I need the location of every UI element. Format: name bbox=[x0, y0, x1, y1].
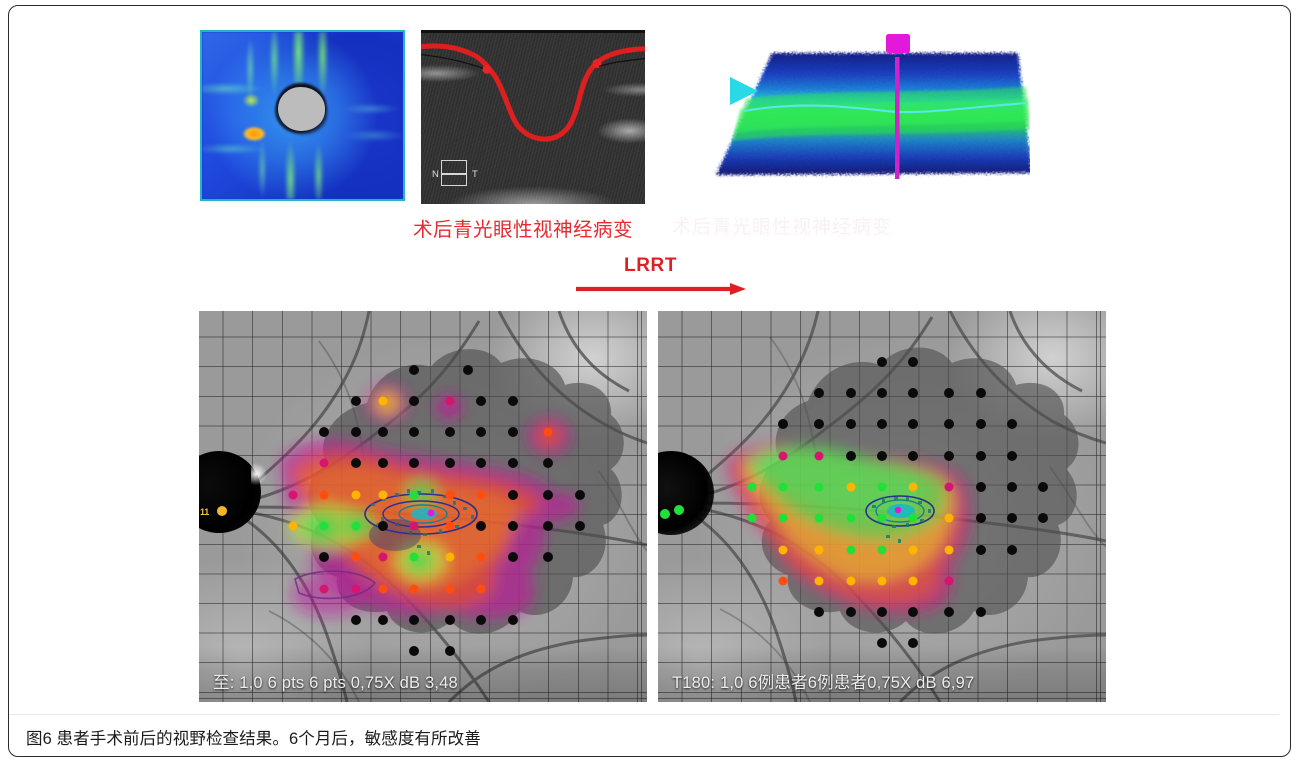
postop-label-ghost: 术后青光眼性视神经病变 bbox=[672, 212, 892, 239]
sensitivity-point bbox=[351, 458, 361, 468]
sensitivity-point bbox=[410, 553, 419, 562]
sensitivity-point bbox=[543, 490, 553, 500]
sensitivity-point bbox=[544, 428, 553, 437]
sensitivity-point bbox=[908, 607, 918, 617]
sensitivity-point bbox=[508, 552, 518, 562]
sensitivity-point bbox=[410, 490, 419, 499]
sensitivity-point bbox=[409, 615, 419, 625]
sensitivity-point bbox=[814, 388, 824, 398]
sensitivity-point bbox=[351, 615, 361, 625]
sensitivity-point bbox=[814, 419, 824, 429]
sensitivity-point bbox=[878, 514, 887, 523]
sensitivity-point bbox=[815, 545, 824, 554]
visual-field-postop[interactable]: T180: 1,0 6例患者6例患者0,75X dB 6,97 bbox=[658, 311, 1106, 702]
sensitivity-point bbox=[476, 458, 486, 468]
sensitivity-point bbox=[575, 490, 585, 500]
sensitivity-point bbox=[351, 522, 360, 531]
sensitivity-point bbox=[944, 451, 954, 461]
sensitivity-point bbox=[976, 451, 986, 461]
oct-orientation-box-icon bbox=[441, 160, 467, 186]
figure-body: N T bbox=[0, 0, 1309, 765]
sensitivity-point bbox=[320, 490, 329, 499]
sensitivity-point bbox=[543, 521, 553, 531]
sensitivity-point bbox=[320, 522, 329, 531]
sensitivity-point bbox=[476, 521, 486, 531]
sensitivity-point bbox=[976, 419, 986, 429]
sensitivity-point bbox=[476, 427, 486, 437]
sensitivity-point bbox=[378, 521, 388, 531]
status-text-preop: 至: 1,0 6 pts 6 pts 0,75X dB 3,48 bbox=[213, 669, 458, 693]
sensitivity-point bbox=[508, 458, 518, 468]
sensitivity-point bbox=[779, 514, 788, 523]
sensitivity-point bbox=[976, 545, 986, 555]
sensitivity-point bbox=[409, 427, 419, 437]
sensitivity-point bbox=[976, 482, 986, 492]
sensitivity-point bbox=[351, 584, 360, 593]
sensitivity-point bbox=[878, 576, 887, 585]
sensitivity-point bbox=[878, 545, 887, 554]
oct-temporal-label: T bbox=[472, 169, 478, 180]
sensitivity-point bbox=[778, 419, 788, 429]
sensitivity-point bbox=[1038, 513, 1048, 523]
sensitivity-point bbox=[908, 388, 918, 398]
sensitivity-point bbox=[445, 427, 455, 437]
sensitivity-point bbox=[815, 482, 824, 491]
sensitivity-point bbox=[846, 451, 856, 461]
sensitivity-point bbox=[944, 388, 954, 398]
sensitivity-point bbox=[976, 607, 986, 617]
edge-marker-label-preop: 11 bbox=[200, 507, 209, 517]
sensitivity-point bbox=[909, 514, 918, 523]
sensitivity-point bbox=[351, 490, 360, 499]
sensitivity-point bbox=[508, 427, 518, 437]
sensitivity-point bbox=[378, 584, 387, 593]
postop-diagnosis-label: 术后青光眼性视神经病变 bbox=[413, 213, 633, 242]
sensitivity-point bbox=[543, 458, 553, 468]
lrrt-treatment-label: LRRT bbox=[624, 255, 677, 277]
sensitivity-point bbox=[543, 552, 553, 562]
sensitivity-point bbox=[319, 427, 329, 437]
sensitivity-point bbox=[909, 482, 918, 491]
sensitivity-point bbox=[878, 482, 887, 491]
sensitivity-point bbox=[814, 607, 824, 617]
sensitivity-point bbox=[815, 576, 824, 585]
sensitivity-point bbox=[945, 514, 954, 523]
sensitivity-point bbox=[846, 545, 855, 554]
figure-caption: 图6 患者手术前后的视野检查结果。6个月后，敏感度有所改善 bbox=[26, 725, 481, 749]
sensitivity-point bbox=[477, 553, 486, 562]
sensitivity-point bbox=[908, 451, 918, 461]
sensitivity-point bbox=[508, 615, 518, 625]
sensitivity-point bbox=[289, 522, 298, 531]
sensitivity-point bbox=[378, 458, 388, 468]
sensitivity-point bbox=[351, 427, 361, 437]
sensitivity-point bbox=[378, 427, 388, 437]
sensitivity-point bbox=[378, 490, 387, 499]
sensitivity-point bbox=[409, 396, 419, 406]
oct-bscan-panel: N T bbox=[421, 30, 645, 204]
sensitivity-point bbox=[945, 576, 954, 585]
sensitivity-point bbox=[877, 357, 887, 367]
sensitivity-point bbox=[445, 458, 455, 468]
oct-nasal-label: N bbox=[432, 169, 439, 180]
sensitivity-point bbox=[1007, 545, 1017, 555]
sensitivity-point bbox=[410, 522, 419, 531]
sensitivity-point bbox=[476, 615, 486, 625]
sensitivity-point bbox=[351, 553, 360, 562]
progression-arrow-icon bbox=[576, 282, 746, 296]
sensitivity-point bbox=[445, 615, 455, 625]
figure-panel: N T bbox=[0, 0, 1309, 765]
sensitivity-point bbox=[508, 490, 518, 500]
sensitivity-point bbox=[976, 388, 986, 398]
caption-divider bbox=[9, 714, 1279, 715]
sensitivity-point bbox=[846, 514, 855, 523]
sensitivity-point bbox=[779, 545, 788, 554]
sensitivity-point bbox=[1007, 513, 1017, 523]
sensitivity-point bbox=[909, 545, 918, 554]
sensitivity-point bbox=[1038, 482, 1048, 492]
sensitivity-point bbox=[445, 490, 454, 499]
sensitivity-point bbox=[846, 482, 855, 491]
sensitivity-point bbox=[289, 490, 298, 499]
sensitivity-point bbox=[815, 514, 824, 523]
sensitivity-point bbox=[748, 514, 757, 523]
visual-field-preop[interactable]: 11 至: 1,0 6 pts 6 pts 0,75X dB 3,48 bbox=[199, 311, 647, 702]
sensitivity-point bbox=[846, 388, 856, 398]
sensitivity-point bbox=[1007, 419, 1017, 429]
sensitivity-points-preop bbox=[199, 311, 647, 702]
sensitivity-point bbox=[779, 576, 788, 585]
sensitivity-point bbox=[846, 419, 856, 429]
sensitivity-point bbox=[877, 451, 887, 461]
sensitivity-point bbox=[908, 419, 918, 429]
sensitivity-point bbox=[320, 459, 329, 468]
rnfl-thickness-map bbox=[200, 30, 405, 201]
sensitivity-point bbox=[779, 451, 788, 460]
sensitivity-point bbox=[476, 396, 486, 406]
sensitivity-point bbox=[1007, 482, 1017, 492]
sensitivity-point bbox=[477, 584, 486, 593]
sensitivity-point bbox=[846, 607, 856, 617]
sensitivity-point bbox=[877, 419, 887, 429]
sensitivity-point bbox=[463, 365, 473, 375]
optic-disc-marker bbox=[278, 87, 325, 131]
sensitivity-point bbox=[445, 553, 454, 562]
sensitivity-point bbox=[445, 396, 454, 405]
sensitivity-point bbox=[846, 576, 855, 585]
sensitivity-point bbox=[945, 545, 954, 554]
sensitivity-point bbox=[508, 396, 518, 406]
sensitivity-point bbox=[319, 552, 329, 562]
sensitivity-point bbox=[409, 458, 419, 468]
sensitivity-point bbox=[351, 396, 361, 406]
sensitivity-point bbox=[477, 490, 486, 499]
sensitivity-point bbox=[378, 615, 388, 625]
sensitivity-point bbox=[877, 388, 887, 398]
sensitivity-point bbox=[1007, 451, 1017, 461]
sensitivity-point bbox=[320, 584, 329, 593]
sensitivity-point bbox=[944, 419, 954, 429]
status-text-postop: T180: 1,0 6例患者6例患者0,75X dB 6,97 bbox=[672, 669, 974, 693]
sensitivity-point bbox=[908, 357, 918, 367]
rnfl-3d-surface-plot bbox=[700, 25, 1030, 207]
sensitivity-point bbox=[575, 521, 585, 531]
sensitivity-point bbox=[779, 482, 788, 491]
sensitivity-point bbox=[378, 553, 387, 562]
sensitivity-point bbox=[945, 482, 954, 491]
sensitivity-point bbox=[976, 513, 986, 523]
edge-marker-dot-preop bbox=[217, 506, 227, 516]
sensitivity-point bbox=[445, 522, 454, 531]
sensitivity-point bbox=[409, 365, 419, 375]
sensitivity-point bbox=[748, 482, 757, 491]
sensitivity-point bbox=[909, 576, 918, 585]
sensitivity-point bbox=[508, 521, 518, 531]
sensitivity-point bbox=[445, 584, 454, 593]
sensitivity-point bbox=[815, 451, 824, 460]
sensitivity-point bbox=[944, 607, 954, 617]
sensitivity-point bbox=[877, 607, 887, 617]
sensitivity-points-postop bbox=[658, 311, 1106, 702]
sensitivity-point bbox=[378, 396, 387, 405]
sensitivity-point bbox=[410, 584, 419, 593]
